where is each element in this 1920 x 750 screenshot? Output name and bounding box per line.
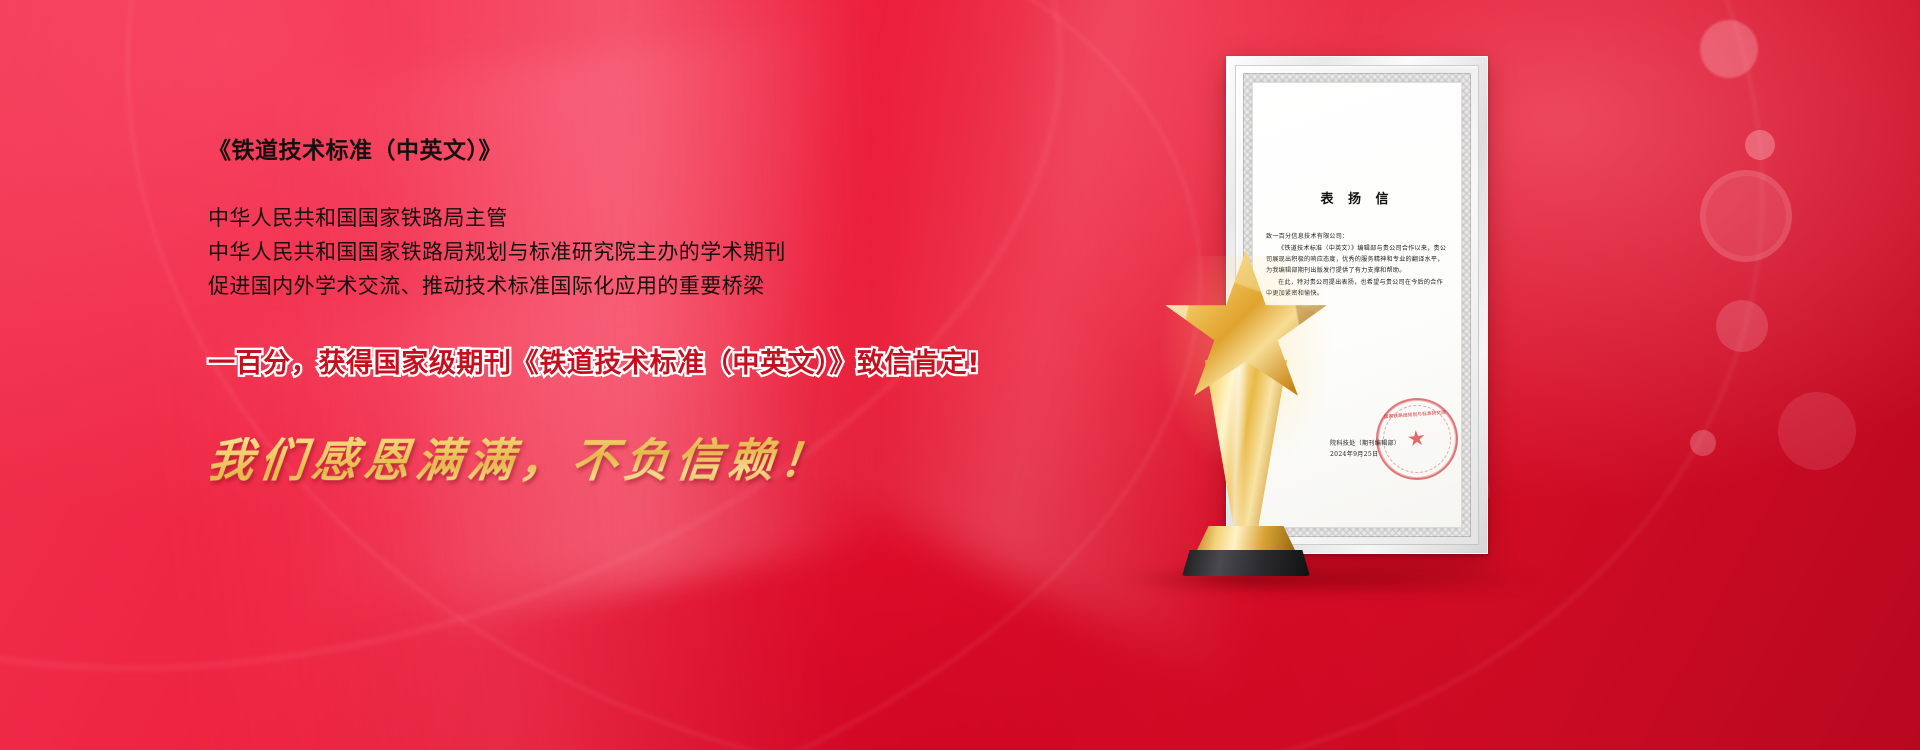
gold-star-trophy-icon	[1142, 250, 1350, 570]
banner-stage: 《铁道技术标准（中英文）》 中华人民共和国国家铁路局主管 中华人民共和国国家铁路…	[0, 0, 1920, 750]
gratitude-calligraphy: 我们感恩满满，不负信赖！	[205, 424, 1092, 490]
certificate-title: 表 扬 信	[1252, 188, 1462, 207]
bokeh-circle-2	[1745, 130, 1775, 160]
bokeh-circle-3	[1700, 170, 1792, 262]
certificate-salutation: 致一百分信息技术有限公司：	[1266, 231, 1448, 242]
text-block: 《铁道技术标准（中英文）》 中华人民共和国国家铁路局主管 中华人民共和国国家铁路…	[208, 138, 1088, 490]
bokeh-circle-5	[1778, 392, 1856, 470]
trophy-base-gold	[1194, 526, 1298, 552]
journal-title: 《铁道技术标准（中英文）》	[208, 138, 1088, 166]
award-headline: 一百分，获得国家级期刊《铁道技术标准（中英文）》致信肯定!	[208, 341, 1088, 380]
subtitle-line: 中华人民共和国国家铁路局主管	[208, 201, 1088, 235]
subtitle-line: 促进国内外学术交流、推动技术标准国际化应用的重要桥梁	[208, 269, 1088, 303]
subtitle-line: 中华人民共和国国家铁路局规划与标准研究院主办的学术期刊	[208, 235, 1088, 269]
bokeh-circle-6	[1690, 430, 1716, 456]
trophy-base-dark	[1182, 550, 1310, 576]
subtitle-list: 中华人民共和国国家铁路局主管 中华人民共和国国家铁路局规划与标准研究院主办的学术…	[208, 201, 1088, 303]
bokeh-circle-4	[1716, 300, 1768, 352]
bokeh-circle-1	[1700, 20, 1758, 78]
